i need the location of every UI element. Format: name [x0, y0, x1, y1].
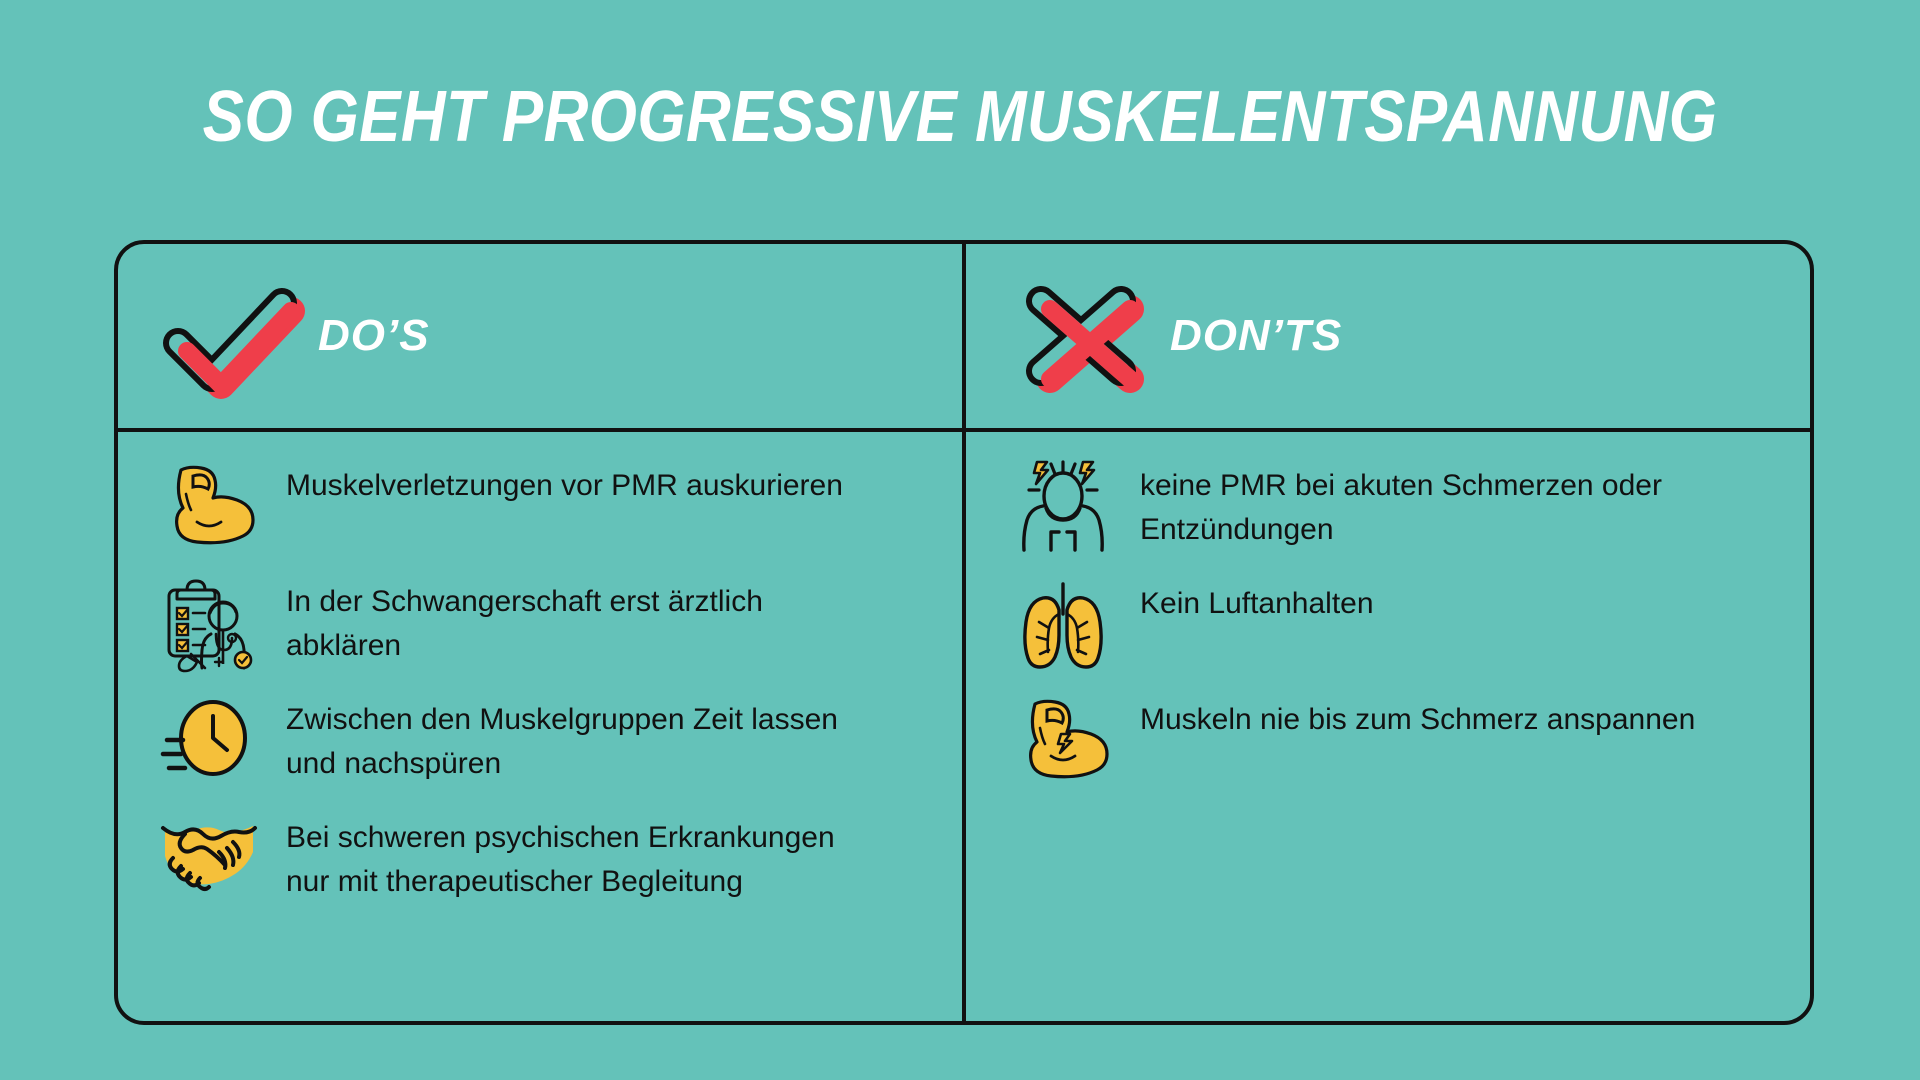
check-icon — [154, 277, 304, 395]
dos-list: Muskelverletzungen vor PMR auskurieren — [118, 428, 964, 1021]
list-item: Muskelverletzungen vor PMR auskurieren — [154, 458, 934, 550]
flexed-bicep-bolt-icon — [1008, 692, 1118, 784]
list-item: In der Schwangerschaft erst ärztlich abk… — [154, 574, 934, 668]
list-item: Kein Luftanhalten — [1008, 576, 1780, 668]
list-item: Muskeln nie bis zum Schmerz anspannen — [1008, 692, 1780, 784]
list-item: Bei schweren psychischen Erkrankungen nu… — [154, 810, 934, 904]
dos-header: DO’S — [118, 244, 964, 428]
page-title: SO GEHT PROGRESSIVE MUSKELENTSPANNUNG — [134, 78, 1785, 156]
list-item-text: Bei schweren psychischen Erkrankungen nu… — [286, 810, 876, 904]
donts-header: DON’TS — [964, 244, 1810, 428]
list-item-text: Kein Luftanhalten — [1140, 576, 1374, 626]
list-item-text: keine PMR bei akuten Schmerzen oder Entz… — [1140, 458, 1700, 552]
flexed-bicep-icon — [154, 458, 264, 550]
dos-header-label: DO’S — [318, 311, 430, 361]
clipboard-doctor-icon — [154, 574, 264, 666]
list-item-text: Zwischen den Muskelgruppen Zeit lassen u… — [286, 692, 876, 786]
clock-icon — [154, 692, 264, 784]
donts-header-label: DON’TS — [1170, 311, 1342, 361]
headache-person-icon — [1008, 458, 1118, 550]
lungs-icon — [1008, 576, 1118, 668]
handshake-icon — [154, 810, 264, 902]
list-item-text: In der Schwangerschaft erst ärztlich abk… — [286, 574, 876, 668]
dos-donts-card: DO’S D — [114, 240, 1814, 1025]
donts-list: keine PMR bei akuten Schmerzen oder Entz… — [964, 428, 1810, 1021]
list-item: keine PMR bei akuten Schmerzen oder Entz… — [1008, 458, 1780, 552]
list-item-text: Muskeln nie bis zum Schmerz anspannen — [1140, 692, 1695, 742]
cross-icon — [1006, 277, 1156, 395]
list-item-text: Muskelverletzungen vor PMR auskurieren — [286, 458, 843, 508]
list-item: Zwischen den Muskelgruppen Zeit lassen u… — [154, 692, 934, 786]
